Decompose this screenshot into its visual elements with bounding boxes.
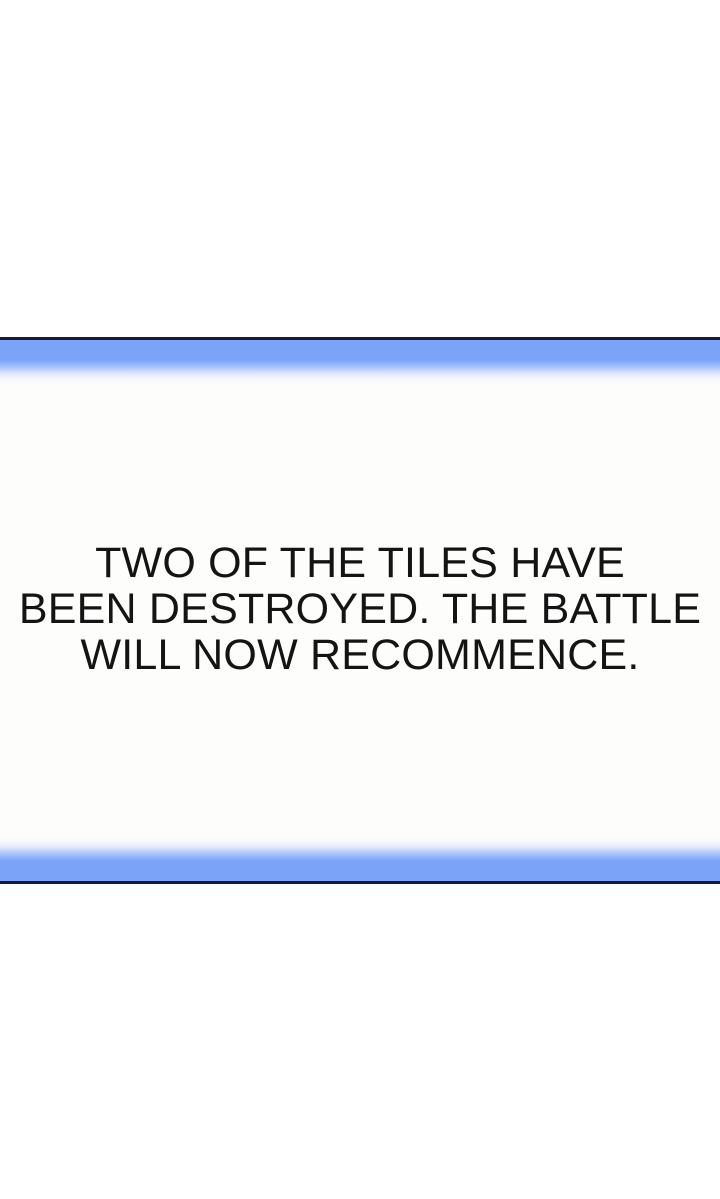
narration-line-1: TWO OF THE TILES HAVE <box>0 540 720 586</box>
gutter-above-panel <box>0 0 720 337</box>
narration-panel: TWO OF THE TILES HAVE BEEN DESTROYED. TH… <box>0 337 720 884</box>
comic-page: TWO OF THE TILES HAVE BEEN DESTROYED. TH… <box>0 0 720 1199</box>
narration-text-block: TWO OF THE TILES HAVE BEEN DESTROYED. TH… <box>0 337 720 884</box>
narration-line-3: WILL NOW RECOMMENCE. <box>0 632 720 678</box>
gutter-below-panel <box>0 884 720 1199</box>
narration-line-2: BEEN DESTROYED. THE BATTLE <box>0 586 720 632</box>
